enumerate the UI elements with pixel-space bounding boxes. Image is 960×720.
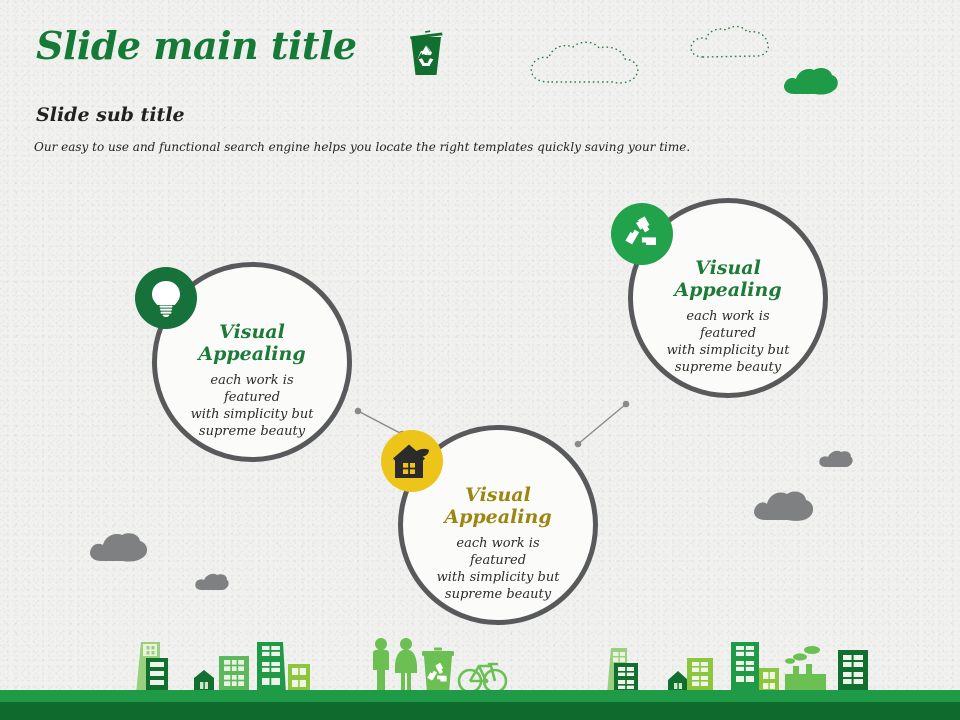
city-skyline [0,620,960,720]
recycle-bin-icon [403,25,449,83]
circle-description-1: each work is featured with simplicity bu… [182,372,322,440]
cloud-gray-right-large [752,489,818,523]
bicycle [459,664,506,692]
cloud-gray-left-small [194,572,230,592]
circle-description-2: each work is featured with simplicity bu… [428,535,568,603]
factory-with-smoke [785,646,826,694]
cloud-dashed-small [687,25,772,60]
recycle-bin [422,648,454,694]
circle-title-3: Visual Appealing [658,257,798,301]
circle-description-3: each work is featured with simplicity bu… [658,308,798,376]
ground-strip-dark [0,702,960,720]
cloud-dashed-large [527,40,642,85]
cloud-gray-right-small [818,449,854,469]
recycle-icon[interactable] [611,203,673,265]
circle-title-2: Visual Appealing [428,484,568,528]
eco-house-icon[interactable] [381,430,443,492]
pedestrian-man [373,638,389,693]
info-circle-3[interactable]: Visual Appealing each work is featured w… [628,198,828,398]
pedestrian-woman [395,638,417,693]
circle-title-1: Visual Appealing [182,321,322,365]
ground-strip-light [0,690,960,702]
page-title: Slide main title [36,23,357,69]
info-circle-2[interactable]: Visual Appealing each work is featured w… [398,425,598,625]
lightbulb-icon[interactable] [135,267,197,329]
page-subtitle: Slide sub title [36,103,185,127]
slide-canvas: Slide main title Slide sub title Our eas… [0,0,960,720]
info-circle-1[interactable]: Visual Appealing each work is featured w… [152,262,352,462]
cloud-solid-green [782,66,840,96]
cloud-gray-left-large [88,531,152,563]
connector-node1-node2 [358,411,402,434]
page-description: Our easy to use and functional search en… [34,139,690,155]
